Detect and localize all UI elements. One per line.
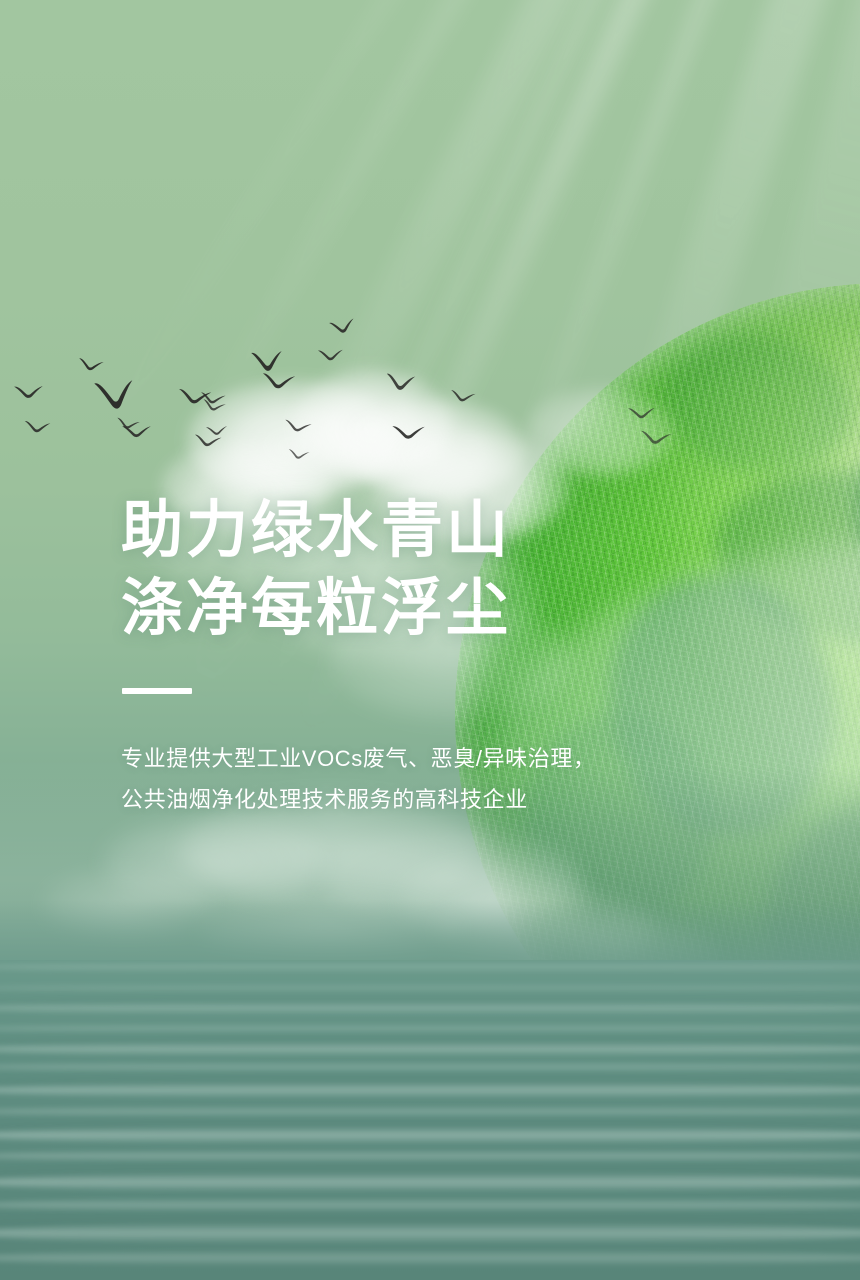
subtext-line-2: 公共油烟净化处理技术服务的高科技企业 — [121, 779, 681, 820]
water-surface — [0, 960, 860, 1280]
water-ripple-light — [0, 1198, 860, 1212]
headline-line-1: 助力绿水青山 — [121, 492, 681, 570]
eco-promo-poster: 助力绿水青山 涤净每粒浮尘 专业提供大型工业VOCs废气、恶臭/异味治理， 公共… — [0, 0, 860, 1280]
water-ripple-light — [0, 1024, 860, 1033]
water-ripple-dark — [0, 1212, 860, 1236]
subtext-block: 专业提供大型工业VOCs废气、恶臭/异味治理， 公共油烟净化处理技术服务的高科技… — [121, 738, 681, 820]
subtext-line-1: 专业提供大型工业VOCs废气、恶臭/异味治理， — [121, 738, 681, 779]
water-ripple-dark — [0, 1118, 860, 1138]
water-ripple-light — [0, 962, 860, 972]
water-ripple-light — [0, 1062, 860, 1072]
water-ripple-dark — [0, 1164, 860, 1186]
headline-line-2: 涤净每粒浮尘 — [121, 570, 681, 648]
water-ripple-dark — [0, 994, 860, 1008]
water-ripple-dark — [0, 1074, 860, 1092]
hero-text-block: 助力绿水青山 涤净每粒浮尘 专业提供大型工业VOCs废气、恶臭/异味治理， 公共… — [121, 492, 681, 820]
water-ripples — [0, 960, 860, 1280]
water-ripple-light — [0, 1150, 860, 1162]
water-ripple-light — [0, 1250, 860, 1266]
water-ripple-dark — [0, 1034, 860, 1050]
water-ripple-light — [0, 984, 860, 992]
water-ripple-light — [0, 1106, 860, 1117]
title-divider-rule — [122, 688, 192, 694]
